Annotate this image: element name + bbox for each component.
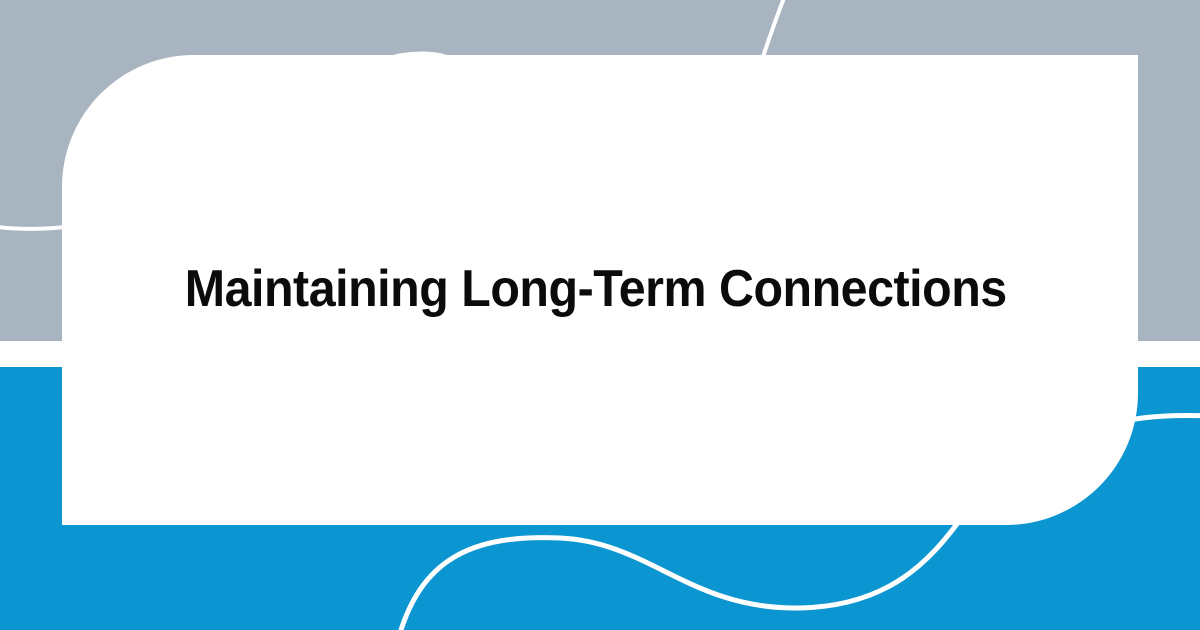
content-card: Maintaining Long-Term Connections <box>62 55 1138 525</box>
page-title: Maintaining Long-Term Connections <box>62 261 1007 318</box>
banner-canvas: Maintaining Long-Term Connections <box>0 0 1200 630</box>
content-card-inner: Maintaining Long-Term Connections <box>62 55 1138 525</box>
